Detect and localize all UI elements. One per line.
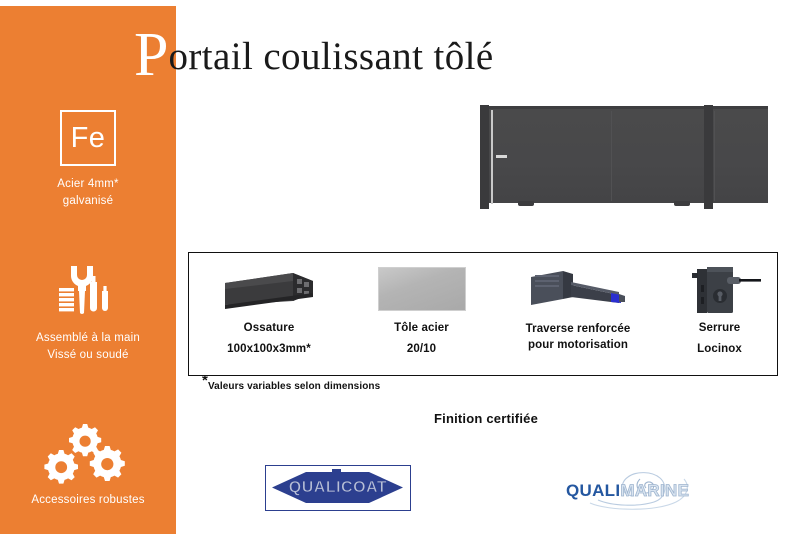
page-title: Portail coulissant tôlé [134, 24, 494, 86]
component-tole-acier: Tôle acier 20/10 [349, 253, 494, 375]
footnote: *Valeurs variables selon dimensions [202, 381, 380, 392]
steel-profile-icon [221, 269, 317, 311]
qualicoat-label: QUALICOAT [266, 466, 410, 510]
qualimarine-logo: QUALIMARINE [560, 466, 720, 514]
component-serrure: Serrure Locinox [662, 253, 777, 375]
component-traverse-name: Traverse renforcée [494, 322, 662, 337]
reinforced-crossbeam-icon [523, 267, 633, 313]
gears-icon [0, 422, 176, 484]
sidebar-feature-accessories-line1: Accessoires robustes [0, 492, 176, 509]
component-ossature: Ossature 100x100x3mm* [189, 253, 349, 375]
fe-element-icon: Fe [0, 110, 176, 166]
component-serrure-image [662, 259, 777, 321]
component-tole-acier-name: Tôle acier [349, 321, 494, 336]
sidebar-feature-steel: Fe Acier 4mm* galvanisé [0, 110, 176, 210]
gate-post-middle [704, 105, 713, 209]
sidebar-feature-assembly: Assemblé à la main Vissé ou soudé [0, 264, 176, 364]
tools-icon [0, 264, 176, 322]
fe-symbol: Fe [71, 124, 106, 153]
gate-roller-2 [674, 201, 690, 206]
lock-icon [675, 263, 765, 317]
sliding-gate-photo [478, 101, 770, 209]
component-ossature-spec: 100x100x3mm* [189, 342, 349, 357]
component-traverse-image [494, 259, 662, 321]
component-traverse-spec: pour motorisation [494, 338, 662, 353]
qualicoat-logo: QUALICOAT [265, 465, 411, 511]
gate-roller-1 [518, 201, 534, 206]
gate-post-left [480, 105, 489, 209]
component-ossature-image [189, 259, 349, 321]
slide-root: Fe Acier 4mm* galvanisé [0, 0, 800, 534]
component-traverse: Traverse renforcée pour motorisation [494, 253, 662, 375]
qualimarine-label-bold: QUALI [566, 481, 620, 500]
sidebar-feature-assembly-line1: Assemblé à la main [0, 330, 176, 347]
gate-panel-seam-2 [714, 111, 715, 201]
gate-leaf [482, 109, 768, 203]
sidebar-feature-accessories: Accessoires robustes [0, 422, 176, 509]
page-title-rest: ortail coulissant tôlé [168, 35, 493, 78]
sidebar-feature-steel-line2: galvanisé [0, 193, 176, 210]
component-tole-acier-spec: 20/10 [349, 342, 494, 357]
component-serrure-spec: Locinox [662, 342, 777, 357]
gate-panel-seam-1 [611, 111, 612, 201]
fe-box: Fe [60, 110, 116, 166]
components-panel: Ossature 100x100x3mm* Tôle acier 20/10 [188, 252, 778, 376]
sidebar-feature-steel-line1: Acier 4mm* [0, 176, 176, 193]
sidebar-feature-assembly-line2: Vissé ou soudé [0, 347, 176, 364]
footnote-text: Valeurs variables selon dimensions [208, 381, 380, 392]
qualimarine-label: QUALIMARINE [566, 481, 689, 501]
gate-post-highlight [491, 110, 493, 204]
component-tole-acier-image [349, 259, 494, 321]
steel-sheet-icon [378, 267, 466, 311]
qualimarine-label-light: MARINE [620, 481, 689, 500]
gate-handle [496, 155, 507, 158]
page-title-dropcap: P [134, 21, 168, 89]
certification-heading: Finition certifiée [434, 411, 538, 426]
component-serrure-name: Serrure [662, 321, 777, 336]
component-ossature-name: Ossature [189, 321, 349, 336]
